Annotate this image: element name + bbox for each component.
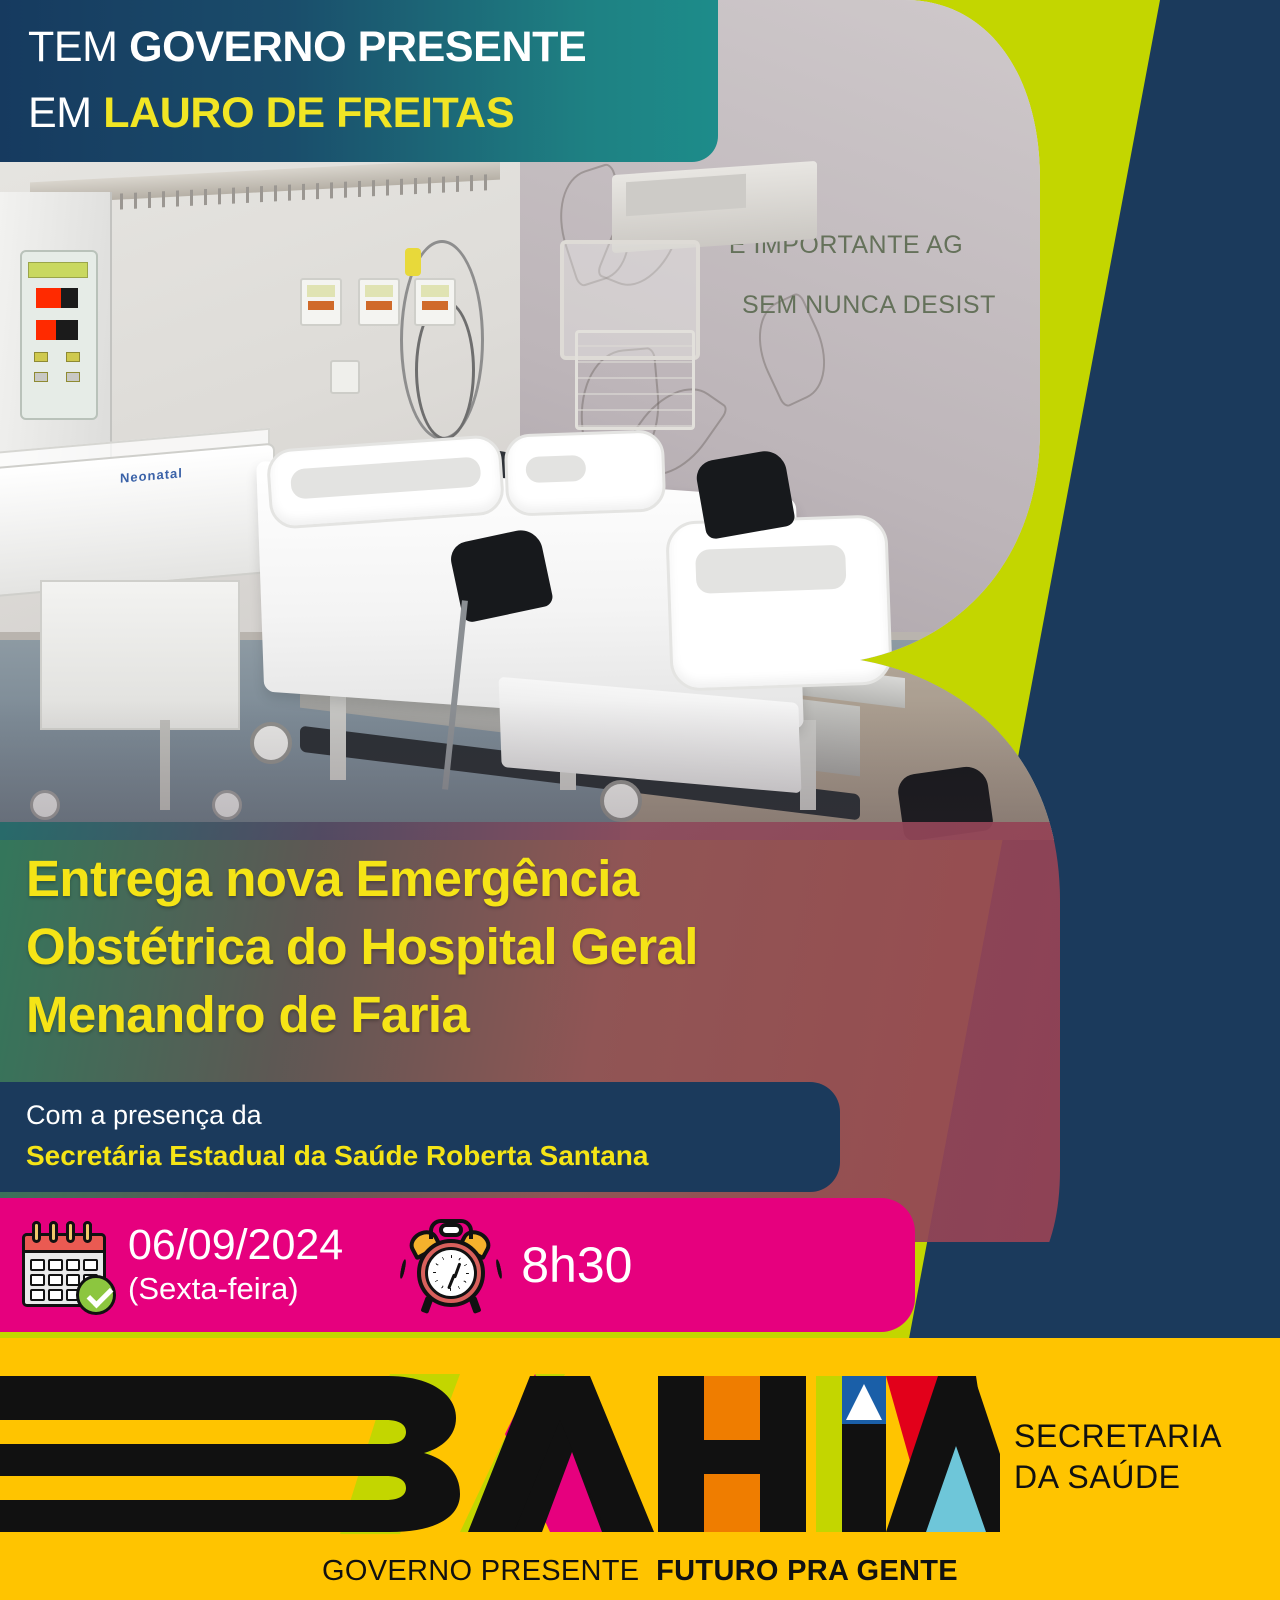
header-line-1: TEM GOVERNO PRESENTE [28, 14, 718, 80]
alarm-clock-icon [403, 1219, 499, 1311]
secretariat-line-1: SECRETARIA [1014, 1416, 1222, 1457]
footer-tagline: GOVERNO PRESENTE FUTURO PRA GENTE [0, 1555, 1280, 1588]
pump-button [66, 372, 80, 382]
header-line2-prefix: EM [28, 89, 103, 137]
cable-clip [405, 248, 421, 276]
wall-outlet [330, 360, 360, 394]
photo-bottom-shade [0, 700, 1080, 840]
bed-side-rail [265, 434, 505, 530]
presence-line-2: Secretária Estadual da Saúde Roberta San… [26, 1136, 840, 1176]
header-line-2: EM LAURO DE FREITAS [28, 80, 718, 146]
time-group: 8h30 [403, 1219, 632, 1311]
title-line-3: Menandro de Faria [26, 981, 986, 1049]
pump-button [34, 352, 48, 362]
header-line1-bold: GOVERNO PRESENTE [129, 23, 586, 71]
calendar-check-icon [18, 1221, 110, 1309]
wall-quote-line-2: SEM NUNCA DESIST [720, 275, 1060, 335]
header-banner: TEM GOVERNO PRESENTE EM LAURO DE FREITAS [0, 0, 718, 162]
event-date: 06/09/2024 [128, 1221, 343, 1269]
title-line-2: Obstétrica do Hospital Geral [26, 913, 986, 981]
title-line-1: Entrega nova Emergência [26, 845, 986, 913]
pump-readout-lower [36, 320, 78, 340]
obstetric-stirrup [694, 448, 796, 540]
header-line2-city: LAURO DE FREITAS [103, 89, 514, 137]
poster-canvas: “É IMPORTANTE AG SEM NUNCA DESIST [0, 0, 1280, 1600]
presence-line-1: Com a presença da [26, 1094, 840, 1136]
secretariat-line-2: DA SAÚDE [1014, 1457, 1222, 1498]
wall-switch [300, 278, 342, 326]
header-line1-prefix: TEM [28, 23, 129, 71]
event-time: 8h30 [521, 1239, 632, 1291]
event-weekday: (Sexta-feira) [128, 1269, 343, 1309]
pump-lcd-display [28, 262, 88, 278]
tagline-bold: FUTURO PRA GENTE [656, 1555, 958, 1587]
wall-switch [358, 278, 400, 326]
bed-side-rail [504, 429, 667, 517]
infant-incubator [0, 443, 275, 598]
pump-button [34, 372, 48, 382]
presence-card: Com a presença da Secretária Estadual da… [0, 1082, 840, 1192]
tagline-plain: GOVERNO PRESENTE [322, 1555, 639, 1587]
pump-readout-upper [36, 288, 78, 308]
footer-logo-band: SECRETARIA DA SAÚDE GOVERNO PRESENTE FUT… [0, 1338, 1280, 1600]
wire-basket [575, 330, 695, 430]
wall-switch [414, 278, 456, 326]
bed-side-rail [665, 514, 893, 692]
bahia-logo [0, 1374, 1000, 1534]
secretariat-label: SECRETARIA DA SAÚDE [1014, 1416, 1222, 1498]
date-time-bar: 06/09/2024 (Sexta-feira) 8h30 [0, 1198, 915, 1332]
pump-button [66, 352, 80, 362]
date-group: 06/09/2024 (Sexta-feira) [18, 1221, 343, 1309]
date-texts: 06/09/2024 (Sexta-feira) [128, 1221, 343, 1309]
event-title: Entrega nova Emergência Obstétrica do Ho… [26, 845, 986, 1049]
